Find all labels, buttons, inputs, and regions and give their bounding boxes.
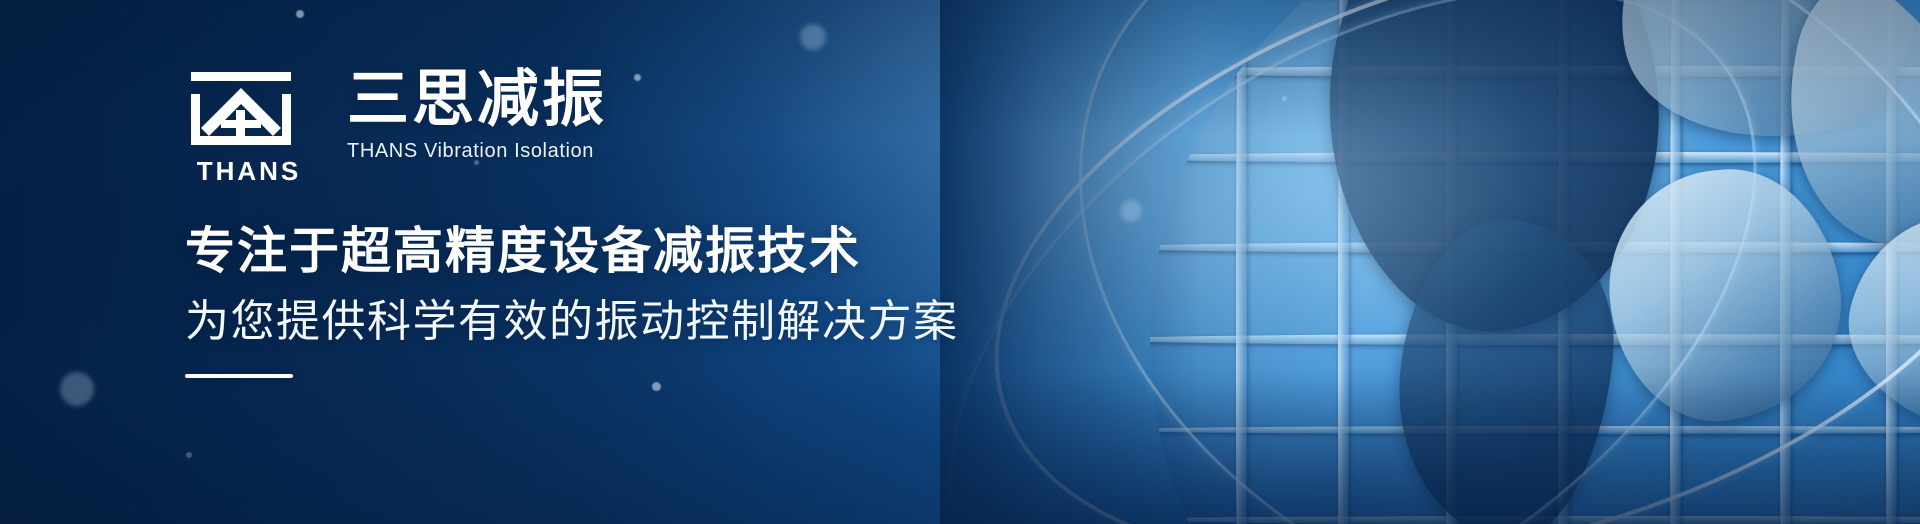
logo-block[interactable]: THANS (185, 66, 313, 184)
bokeh-particle (186, 452, 192, 458)
banner-content: THANS 三思减振 THANS Vibration Isolation 专注于… (185, 66, 1085, 378)
brand-lockup: THANS 三思减振 THANS Vibration Isolation (185, 66, 1085, 184)
bokeh-particle (60, 372, 94, 406)
brand-name-en: THANS Vibration Isolation (347, 141, 607, 161)
hero-banner: THANS 三思减振 THANS Vibration Isolation 专注于… (0, 0, 1920, 524)
hero-headline: 专注于超高精度设备减振技术 (185, 224, 1085, 278)
bokeh-particle (296, 10, 304, 18)
thans-monogram-icon (185, 66, 297, 150)
bokeh-particle (1120, 200, 1142, 222)
hero-subheadline: 为您提供科学有效的振动控制解决方案 (185, 298, 1085, 346)
brand-text: 三思减振 THANS Vibration Isolation (347, 66, 607, 161)
hero-divider (185, 374, 293, 378)
brand-name-cn: 三思减振 (347, 68, 607, 131)
bokeh-particle (652, 382, 661, 391)
logo-wordmark: THANS (185, 158, 313, 184)
bokeh-particle (800, 24, 826, 50)
bokeh-particle (1282, 96, 1287, 101)
